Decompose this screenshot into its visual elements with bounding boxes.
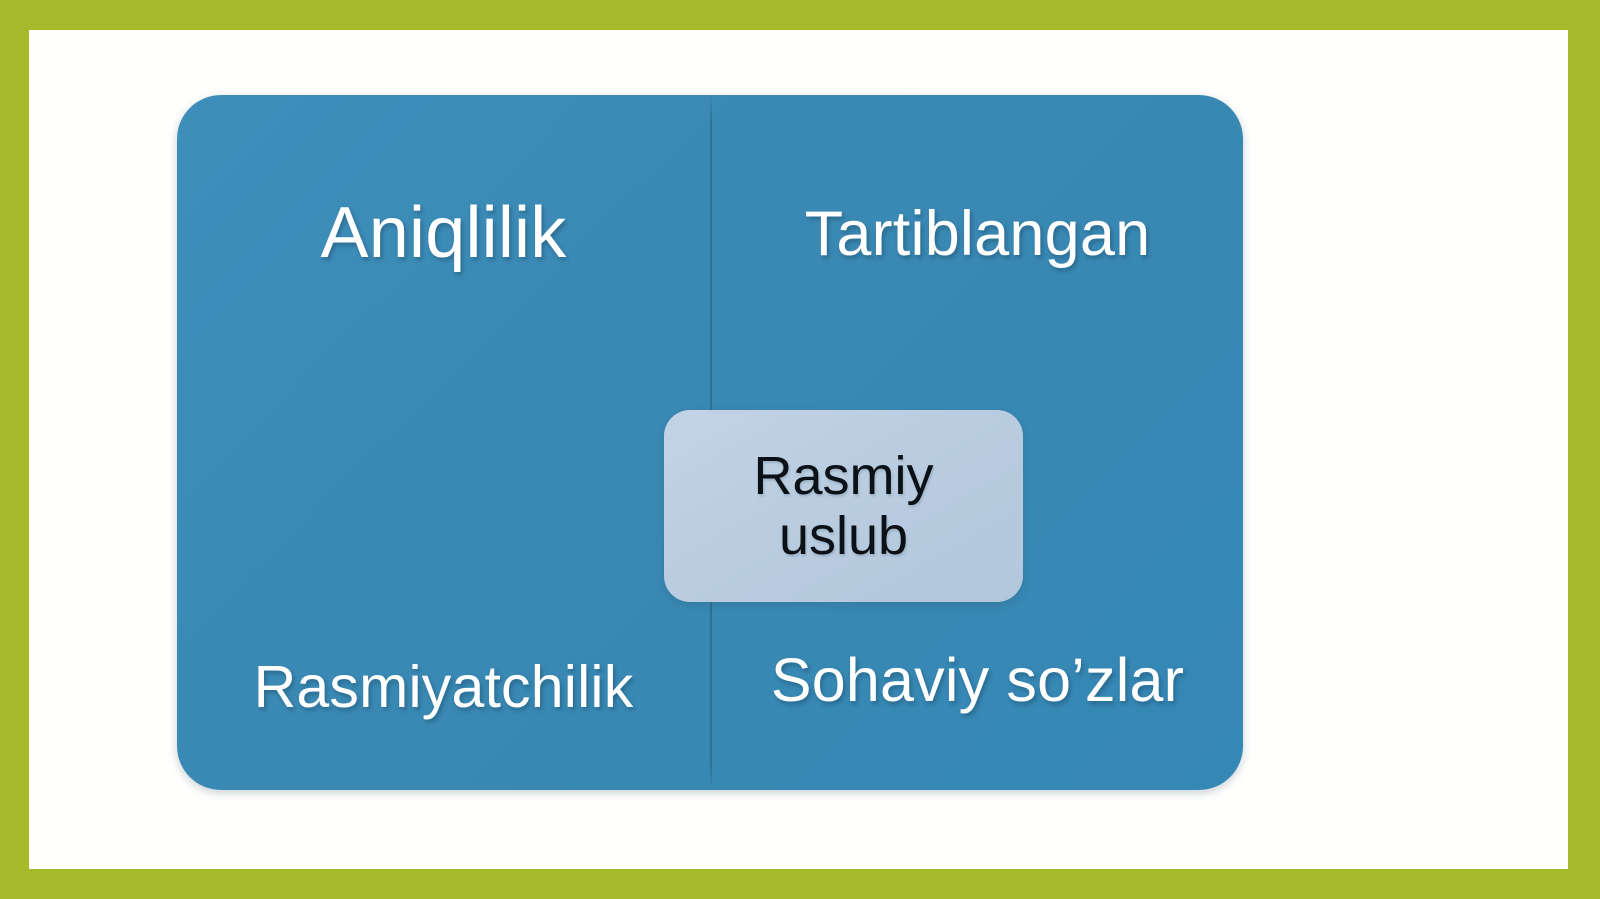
center-concept-line-1: Rasmiy	[753, 446, 933, 506]
quadrant-label-top-right: Tartiblangan	[712, 198, 1243, 270]
quadrant-label-bottom-right: Sohaviy so’zlar	[712, 645, 1243, 715]
quadrant-diagram-panel: Aniqlilik Tartiblangan Rasmiyatchilik So…	[177, 95, 1243, 790]
slide-canvas: Aniqlilik Tartiblangan Rasmiyatchilik So…	[29, 30, 1568, 869]
slide-frame: Aniqlilik Tartiblangan Rasmiyatchilik So…	[0, 0, 1600, 899]
center-concept-box: Rasmiy uslub	[664, 410, 1023, 602]
quadrant-label-bottom-left: Rasmiyatchilik	[177, 653, 710, 721]
quadrant-label-top-left: Aniqlilik	[177, 192, 710, 274]
center-concept-line-2: uslub	[779, 506, 908, 566]
